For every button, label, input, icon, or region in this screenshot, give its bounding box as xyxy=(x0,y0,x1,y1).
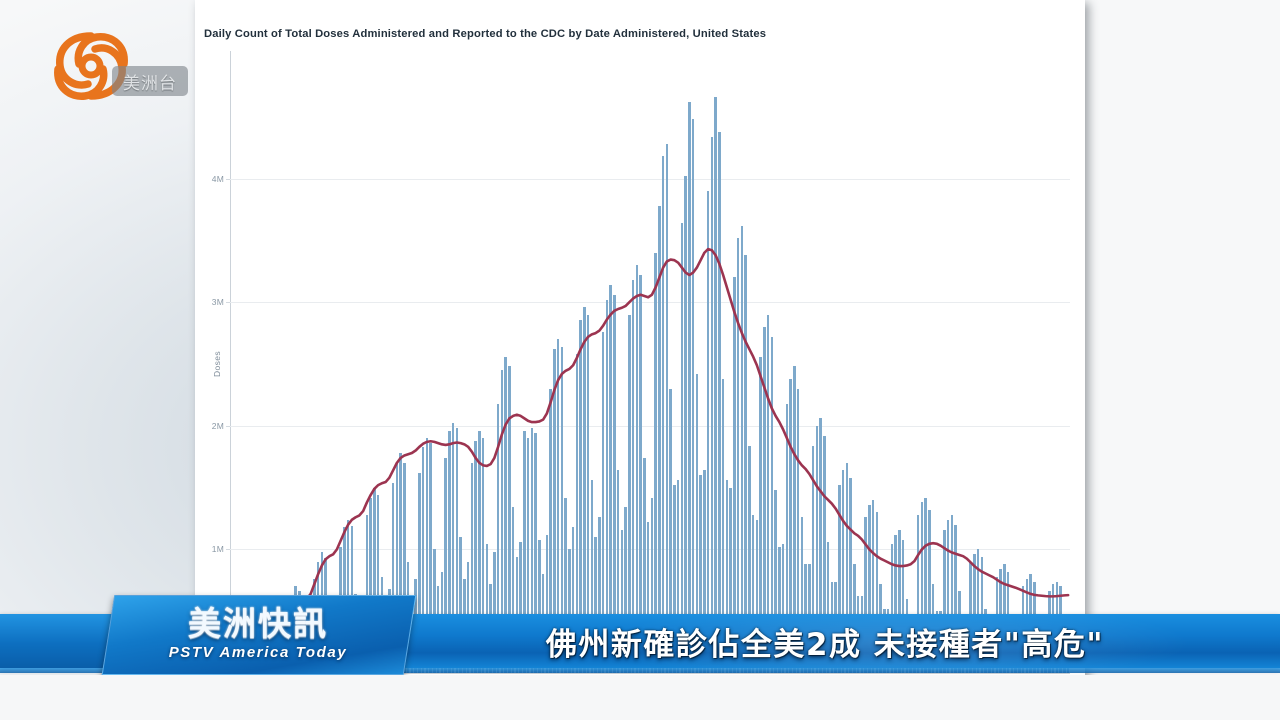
brand-name-chinese: 美洲快訊 xyxy=(188,607,328,641)
bottom-fill xyxy=(0,675,1280,720)
y-tick-label: 2M xyxy=(212,421,224,431)
seven-day-average-line xyxy=(230,55,1070,673)
brand-block: 美洲快訊 PSTV America Today xyxy=(108,595,408,673)
station-badge: 美洲台 xyxy=(112,66,188,96)
news-headline: 佛州新確診佔全美2成 未接種者"高危" xyxy=(430,614,1220,668)
chart-title: Daily Count of Total Doses Administered … xyxy=(204,28,1064,40)
station-logo: 美洲台 xyxy=(52,30,214,102)
brand-name-english: PSTV America Today xyxy=(169,644,348,661)
y-tick-label: 4M xyxy=(212,174,224,184)
y-tick-label: 3M xyxy=(212,297,224,307)
y-axis-title: Doses xyxy=(212,351,222,377)
lower-third-banner: 美洲快訊 PSTV America Today 佛州新確診佔全美2成 未接種者"… xyxy=(0,595,1280,675)
y-tick-label: 1M xyxy=(212,544,224,554)
plot-area: Doses 1M2M3M4M Dec 13, '20 Jul 19, '21 xyxy=(230,55,1070,673)
